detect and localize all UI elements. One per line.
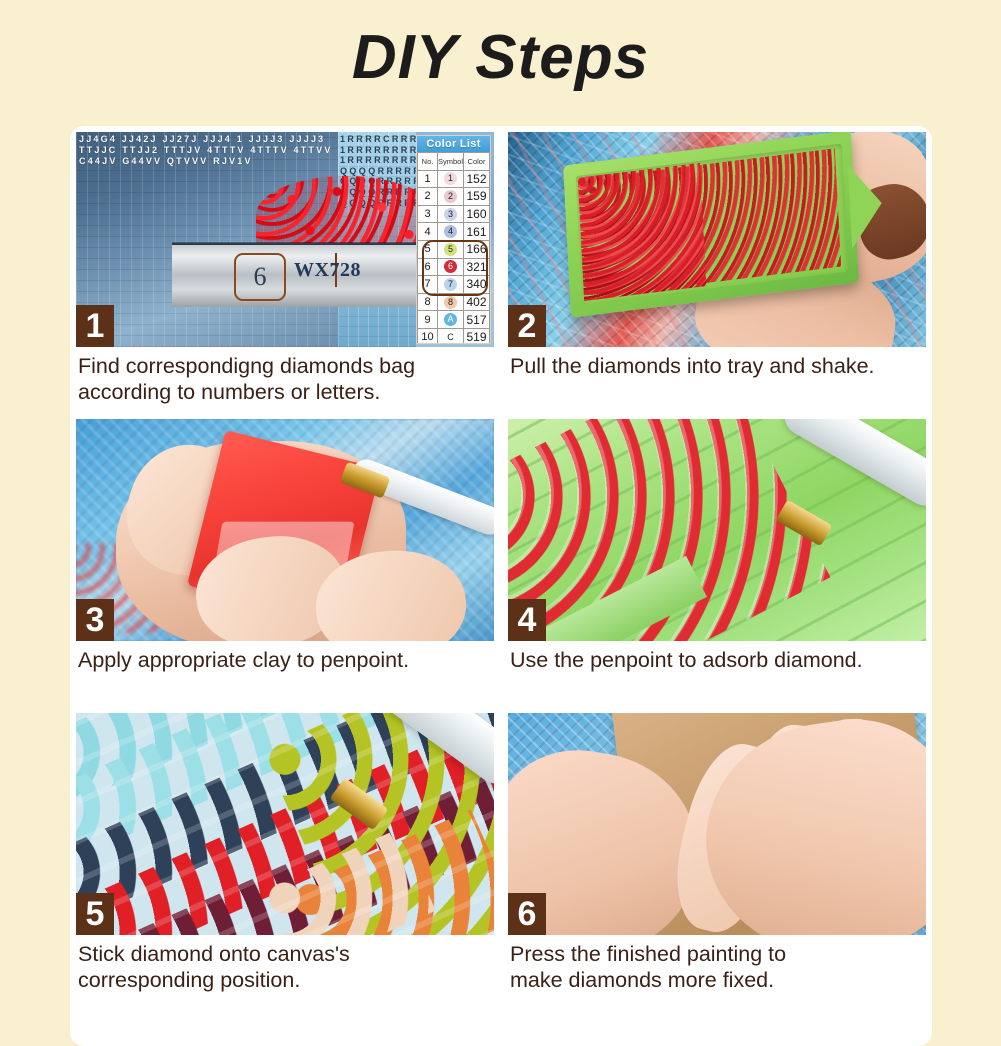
symbol-swatch-icon: 7 [444, 278, 457, 291]
symbol-swatch-icon: 5 [444, 243, 457, 256]
color-list-row: 55166 [418, 240, 490, 258]
color-list-value: 160 [464, 205, 490, 223]
symbol-swatch-icon: 4 [444, 225, 457, 238]
color-list-body: 1115222159331604416155166663217734088402… [418, 170, 490, 344]
step-6-photo: e Bool 6 [508, 713, 926, 935]
step-5-photo: 5 [76, 713, 494, 935]
step-panel-6: e Bool 6 Press the finished painting to … [508, 713, 926, 997]
color-list-symbol: 6 [438, 258, 464, 276]
color-list-row: 22159 [418, 188, 490, 206]
step-panel-1: JJ4G4 JJ42J JJ27J JJJ4 1 JJJJ3 JJJJ3 TTJ… [76, 132, 494, 409]
step-badge-5: 5 [76, 893, 114, 935]
color-list-no: 4 [418, 223, 438, 241]
step-caption-6: Press the finished painting to make diam… [508, 935, 926, 997]
color-list-grid: No. Symbol Color 11152221593316044161551… [417, 152, 490, 344]
color-list-symbol: 1 [438, 170, 464, 188]
caption-line-1: Press the finished painting to [510, 942, 786, 966]
infographic-page: DIY Steps JJ4G4 JJ42J JJ27J JJJ4 1 JJJJ3… [0, 0, 1001, 1001]
symbol-swatch-icon: 2 [444, 190, 457, 203]
color-list-symbol: 3 [438, 205, 464, 223]
color-list-symbol: A [438, 311, 464, 329]
color-list-no: 2 [418, 188, 438, 206]
caption-line-1: Apply appropriate clay to penpoint. [78, 648, 409, 672]
color-list-no: 7 [418, 276, 438, 294]
step-badge-1: 1 [76, 305, 114, 347]
symbol-swatch-icon: A [444, 313, 457, 326]
color-list-row: 77340 [418, 276, 490, 294]
page-title: DIY Steps [0, 22, 1001, 93]
col-no: No. [418, 153, 438, 171]
color-list-symbol: 7 [438, 276, 464, 294]
step-3-photo: 3 [76, 419, 494, 641]
step-panel-5: 5 Stick diamond onto canvas's correspond… [76, 713, 494, 997]
color-list-value: 340 [464, 276, 490, 294]
bag-symbol-badge: 6 [234, 253, 286, 301]
step-caption-3: Apply appropriate clay to penpoint. [76, 641, 494, 703]
caption-line-1: Stick diamond onto canvas's [78, 942, 350, 966]
caption-line-2: according to numbers or letters. [78, 379, 492, 405]
caption-line-1: Use the penpoint to adsorb diamond. [510, 648, 863, 672]
step-panel-2: 2 Pull the diamonds into tray and shake. [508, 132, 926, 409]
color-list-symbol: C [438, 328, 464, 344]
step-caption-4: Use the penpoint to adsorb diamond. [508, 641, 926, 703]
color-list-symbol: 4 [438, 223, 464, 241]
color-list-no: 5 [418, 240, 438, 258]
step-4-photo: 4 [508, 419, 926, 641]
gloss-overlay [76, 713, 494, 935]
step-2-photo: 2 [508, 132, 926, 347]
color-list-no: 9 [418, 311, 438, 329]
color-list-value: 402 [464, 293, 490, 311]
step-panel-3: 3 Apply appropriate clay to penpoint. [76, 419, 494, 703]
symbol-swatch-icon: 3 [444, 208, 457, 221]
step-caption-5: Stick diamond onto canvas's correspondin… [76, 935, 494, 997]
symbol-swatch-icon: 1 [444, 172, 457, 185]
color-list-value: 517 [464, 311, 490, 329]
color-list-row: 44161 [418, 223, 490, 241]
symbol-swatch-icon: 8 [444, 296, 457, 309]
symbol-swatch-icon: 6 [444, 260, 457, 273]
step-caption-1: Find correspondigng diamonds bag accordi… [76, 347, 494, 409]
col-symbol: Symbol [438, 153, 464, 171]
caption-line-2: corresponding position. [78, 967, 492, 993]
tray-interior [576, 143, 849, 304]
color-list-no: 6 [418, 258, 438, 276]
color-list-header-row: No. Symbol Color [418, 153, 490, 171]
step-badge-4: 4 [508, 599, 546, 641]
caption-line-2: make diamonds more fixed. [510, 967, 924, 993]
color-list-row: 11152 [418, 170, 490, 188]
color-list-value: 519 [464, 328, 490, 344]
step-1-photo: JJ4G4 JJ42J JJ27J JJJ4 1 JJJJ3 JJJJ3 TTJ… [76, 132, 494, 347]
col-color: Color [464, 153, 490, 171]
color-list-no: 1 [418, 170, 438, 188]
color-list-symbol: 5 [438, 240, 464, 258]
color-list-row: 88402 [418, 293, 490, 311]
color-list-value: 321 [464, 258, 490, 276]
symbol-swatch-icon: C [444, 331, 457, 344]
diamond-bag: 6 WX728 [172, 243, 422, 307]
step-badge-6: 6 [508, 893, 546, 935]
color-list-value: 166 [464, 240, 490, 258]
color-list-row: 9A517 [418, 311, 490, 329]
color-list-title: Color List [417, 136, 490, 152]
color-list-symbol: 2 [438, 188, 464, 206]
step-badge-3: 3 [76, 599, 114, 641]
color-list-no: 8 [418, 293, 438, 311]
caption-line-1: Pull the diamonds into tray and shake. [510, 354, 875, 378]
color-list-symbol: 8 [438, 293, 464, 311]
red-diamonds-dense [578, 163, 707, 301]
color-list-row: 33160 [418, 205, 490, 223]
bag-code-label: WX728 [294, 259, 361, 282]
color-list-value: 159 [464, 188, 490, 206]
color-list-row: 10C519 [418, 328, 490, 344]
color-list-value: 161 [464, 223, 490, 241]
caption-line-1: Find correspondigng diamonds bag [78, 354, 415, 378]
color-list-no: 10 [418, 328, 438, 344]
step-panel-4: 4 Use the penpoint to adsorb diamond. [508, 419, 926, 703]
color-list-row: 66321 [418, 258, 490, 276]
color-list-no: 3 [418, 205, 438, 223]
step-caption-2: Pull the diamonds into tray and shake. [508, 347, 926, 409]
step-badge-2: 2 [508, 305, 546, 347]
steps-card: JJ4G4 JJ42J JJ27J JJJ4 1 JJJJ3 JJJJ3 TTJ… [70, 126, 932, 1046]
steps-grid: JJ4G4 JJ42J JJ27J JJJ4 1 JJJJ3 JJJJ3 TTJ… [76, 132, 926, 997]
color-list-value: 152 [464, 170, 490, 188]
color-list-table: Color List No. Symbol Color 111522215933… [416, 135, 491, 344]
